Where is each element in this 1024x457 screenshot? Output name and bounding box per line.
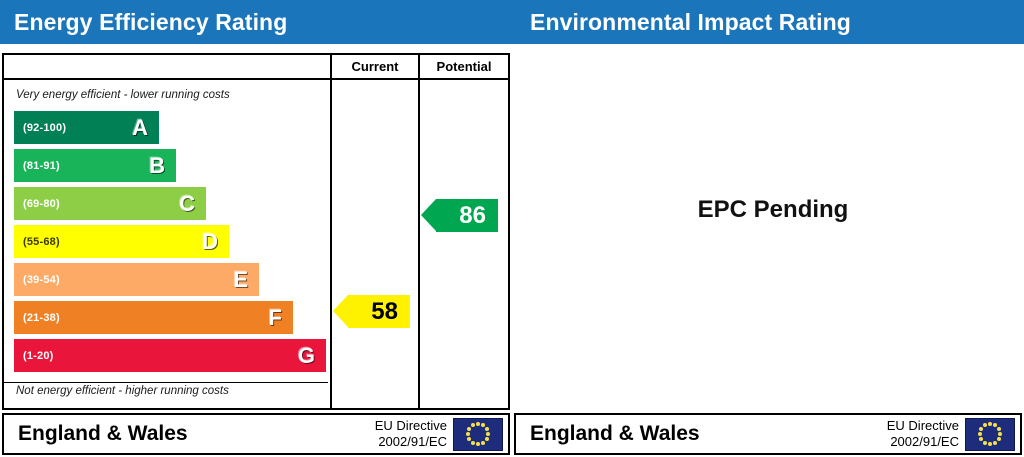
energy-efficiency-header: Energy Efficiency Rating — [0, 0, 512, 44]
band-range-g: (1-20) — [23, 350, 54, 362]
eu-star-icon — [466, 432, 470, 436]
eu-star-icon — [471, 441, 475, 445]
eu-star-icon — [983, 423, 987, 427]
column-header-potential: Potential — [420, 55, 508, 78]
eu-star-icon — [979, 427, 983, 431]
eu-star-icon — [481, 441, 485, 445]
directive-line1-right: EU Directive — [887, 418, 959, 433]
footer-right-inner: England & Wales EU Directive 2002/91/EC — [514, 413, 1022, 455]
eu-star-icon — [998, 432, 1002, 436]
eu-star-icon — [471, 423, 475, 427]
epc-pending-text: EPC Pending — [698, 196, 849, 224]
eu-star-icon — [997, 437, 1001, 441]
directive-line1-left: EU Directive — [375, 418, 447, 433]
rating-band-list: (92-100) A (81-91) B (69-80) C (55-68) D… — [14, 111, 326, 377]
eu-star-icon — [979, 437, 983, 441]
band-range-a: (92-100) — [23, 122, 66, 134]
rating-band-a: (92-100) A — [14, 111, 159, 144]
band-letter-e: E — [233, 269, 248, 291]
arrow-left-icon — [333, 295, 348, 327]
eu-star-icon — [476, 442, 480, 446]
band-letter-c: C — [179, 193, 195, 215]
eu-star-icon — [486, 432, 490, 436]
caption-not-efficient: Not energy efficient - higher running co… — [16, 385, 229, 397]
eu-star-icon — [988, 442, 992, 446]
caption-divider — [4, 382, 328, 383]
energy-rating-chart: Current Potential Very energy efficient … — [2, 53, 510, 410]
epc-pending-wrapper: EPC Pending — [512, 44, 1024, 412]
eu-flag-icon — [453, 418, 503, 451]
rating-band-e: (39-54) E — [14, 263, 259, 296]
band-letter-g: G — [298, 345, 315, 367]
eu-star-icon — [485, 437, 489, 441]
environmental-impact-panel: EPC Pending — [512, 44, 1024, 412]
column-separator-current — [330, 55, 332, 408]
rating-band-g: (1-20) G — [14, 339, 326, 372]
column-separator-potential — [418, 55, 420, 408]
eu-star-icon — [481, 423, 485, 427]
rating-band-f: (21-38) F — [14, 301, 293, 334]
rating-band-d: (55-68) D — [14, 225, 229, 258]
eu-star-icon — [988, 422, 992, 426]
band-range-b: (81-91) — [23, 160, 60, 172]
eu-star-icon — [476, 422, 480, 426]
footer-left: England & Wales EU Directive 2002/91/EC — [0, 412, 512, 457]
caption-very-efficient: Very energy efficient - lower running co… — [16, 89, 230, 101]
band-letter-f: F — [269, 307, 282, 329]
energy-efficiency-panel: Current Potential Very energy efficient … — [0, 44, 512, 412]
band-letter-d: D — [202, 231, 218, 253]
eu-star-icon — [997, 427, 1001, 431]
energy-efficiency-title: Energy Efficiency Rating — [14, 11, 287, 34]
footer-directive-left: EU Directive 2002/91/EC — [375, 418, 453, 451]
arrow-left-icon — [421, 199, 436, 231]
column-header-current: Current — [332, 55, 418, 78]
eu-star-icon — [993, 423, 997, 427]
eu-star-icon — [485, 427, 489, 431]
band-letter-b: B — [149, 155, 165, 177]
environmental-impact-header: Environmental Impact Rating — [512, 0, 1024, 44]
rating-band-b: (81-91) B — [14, 149, 176, 182]
potential-rating-arrow: 86 — [436, 199, 498, 232]
current-rating-arrow-body: 58 — [348, 295, 410, 328]
potential-rating-arrow-body: 86 — [436, 199, 498, 232]
directive-line2-right: 2002/91/EC — [890, 434, 959, 449]
footer-right: England & Wales EU Directive 2002/91/EC — [512, 412, 1024, 457]
band-range-f: (21-38) — [23, 312, 60, 324]
eu-star-icon — [978, 432, 982, 436]
directive-line2-left: 2002/91/EC — [378, 434, 447, 449]
eu-star-icon — [993, 441, 997, 445]
footer-left-inner: England & Wales EU Directive 2002/91/EC — [2, 413, 510, 455]
rating-band-c: (69-80) C — [14, 187, 206, 220]
footer-directive-right: EU Directive 2002/91/EC — [887, 418, 965, 451]
epc-certificate-graphic: Energy Efficiency Rating Environmental I… — [0, 0, 1024, 457]
eu-star-icon — [983, 441, 987, 445]
current-rating-arrow: 58 — [348, 295, 410, 328]
footer-region-right: England & Wales — [516, 422, 887, 446]
current-rating-value: 58 — [371, 300, 398, 324]
environmental-impact-title: Environmental Impact Rating — [530, 11, 851, 34]
band-range-c: (69-80) — [23, 198, 60, 210]
potential-rating-value: 86 — [459, 204, 486, 228]
eu-star-icon — [467, 427, 471, 431]
band-letter-a: A — [132, 117, 148, 139]
band-range-d: (55-68) — [23, 236, 60, 248]
eu-star-icon — [467, 437, 471, 441]
footer-region-left: England & Wales — [4, 422, 375, 446]
eu-flag-icon — [965, 418, 1015, 451]
band-range-e: (39-54) — [23, 274, 60, 286]
